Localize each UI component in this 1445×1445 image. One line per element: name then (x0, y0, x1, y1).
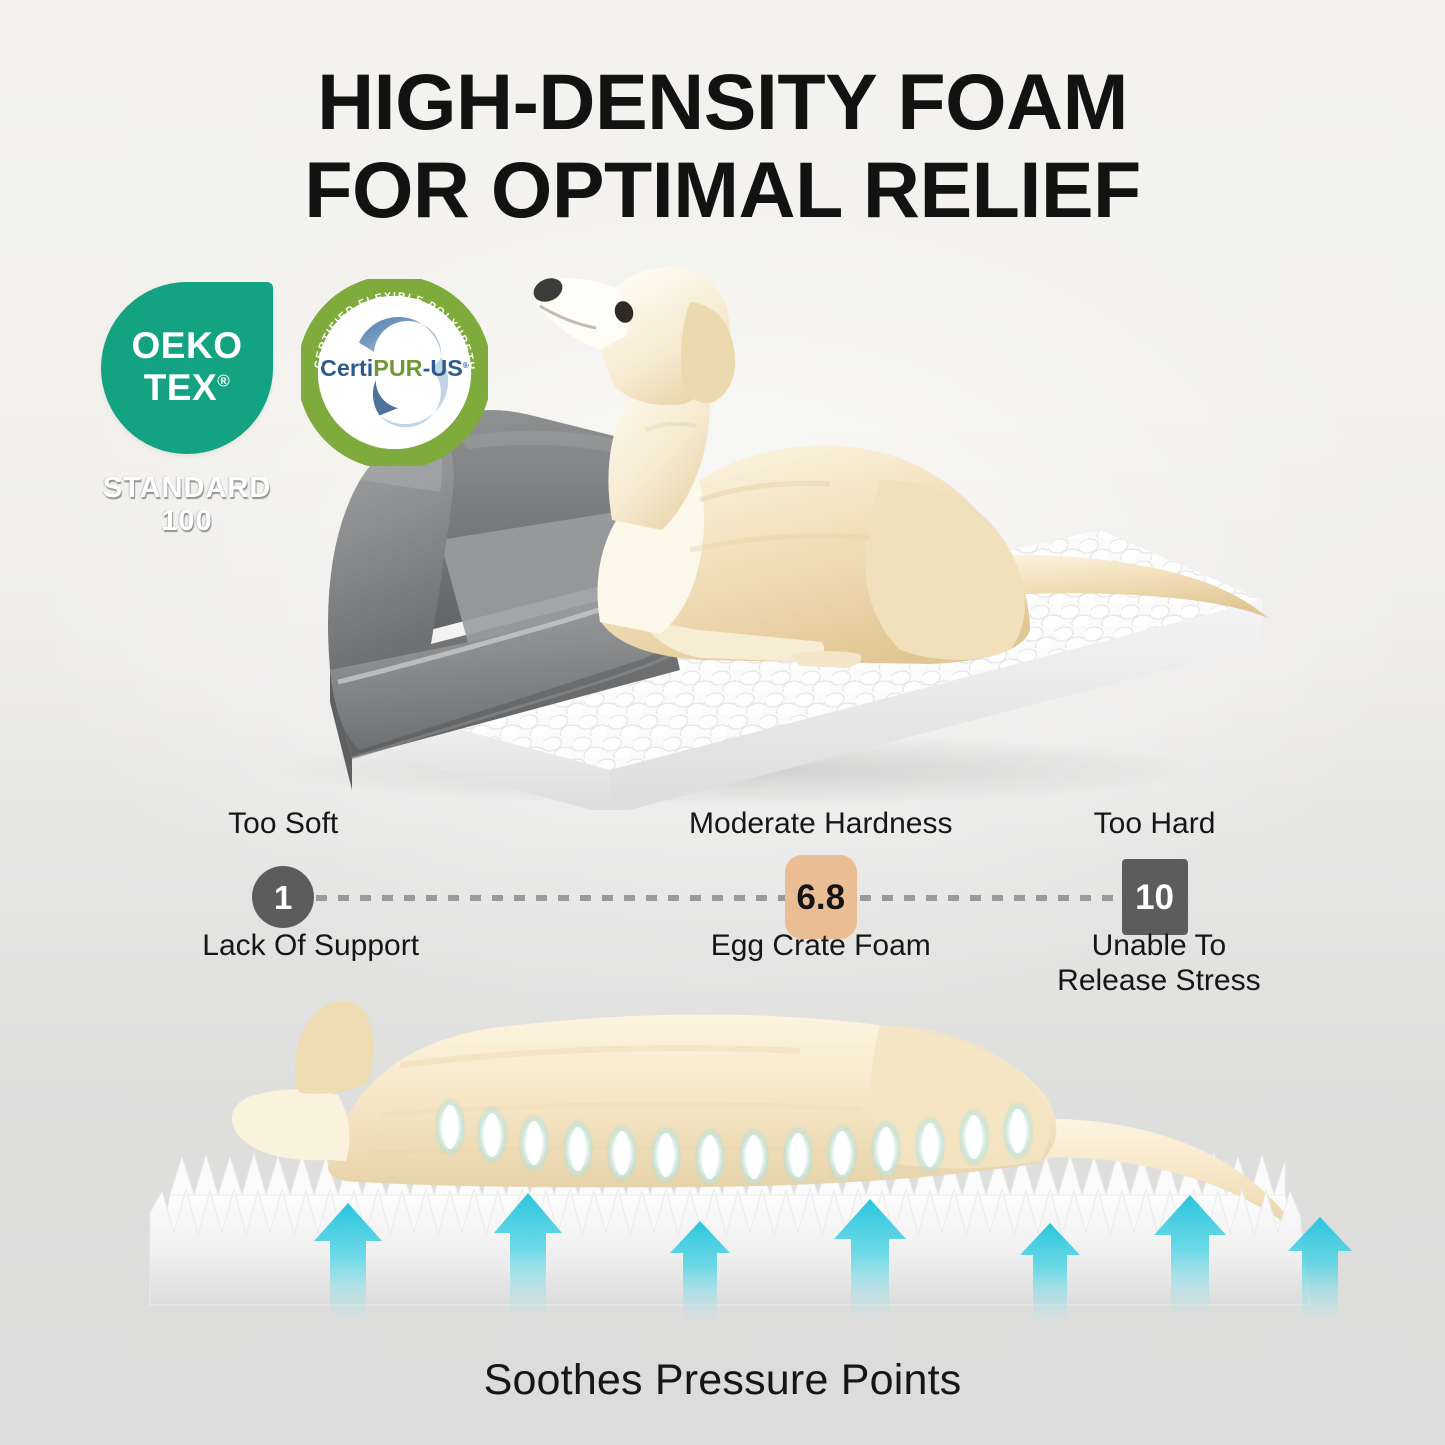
page-title: HIGH-DENSITY FOAM FOR OPTIMAL RELIEF (0, 58, 1445, 235)
scale-bottom-label-2: Egg Crate Foam (711, 928, 931, 963)
svg-text:CertiPUR-US®: CertiPUR-US® (320, 355, 470, 381)
bottom-caption: Soothes Pressure Points (0, 1356, 1445, 1405)
oeko-tex-line-2: TEX® (144, 368, 231, 409)
headline-line-2: FOR OPTIMAL RELIEF (0, 146, 1445, 234)
scale-top-label-1: Too Soft (228, 806, 338, 841)
scale-connector-right (860, 895, 1120, 901)
certipur-us-badge: CertiPUR-US® CONTAINS CERTIFIED FLEXIBLE… (301, 279, 488, 466)
headline-line-1: HIGH-DENSITY FOAM (317, 57, 1128, 146)
certipur-seal-icon: CertiPUR-US® CONTAINS CERTIFIED FLEXIBLE… (301, 279, 488, 466)
hardness-scale: Too Soft Moderate Hardness Too Hard 1 6.… (0, 806, 1445, 996)
scale-top-label-2: Moderate Hardness (689, 806, 952, 841)
scale-bottom-label-3-line2: Release Stress (1057, 964, 1260, 997)
scale-track: 1 6.8 10 (0, 862, 1445, 932)
infographic-canvas: HIGH-DENSITY FOAM FOR OPTIMAL RELIEF OEK… (0, 0, 1445, 1445)
scale-node-68[interactable]: 6.8 (785, 855, 857, 939)
oeko-tex-standard-label: STANDARD 100 (101, 472, 273, 539)
scale-bottom-label-3: Unable To Release Stress (1057, 928, 1260, 999)
scale-connector-left (316, 895, 793, 901)
scale-bottom-label-3-line1: Unable To (1092, 929, 1227, 962)
pressure-relief-illustration (0, 985, 1445, 1345)
oeko-tex-badge: OEKO TEX® STANDARD 100 (101, 282, 273, 539)
oeko-tex-droplet-icon: OEKO TEX® (101, 282, 273, 454)
scale-bottom-label-1: Lack Of Support (202, 928, 419, 963)
oeko-standard-number: 100 (101, 505, 273, 538)
oeko-standard-word: STANDARD (103, 472, 272, 504)
oeko-tex-line-1: OEKO (132, 327, 243, 364)
scale-node-10[interactable]: 10 (1122, 859, 1188, 935)
scale-node-1[interactable]: 1 (252, 866, 314, 928)
scale-top-label-3: Too Hard (1094, 806, 1216, 841)
